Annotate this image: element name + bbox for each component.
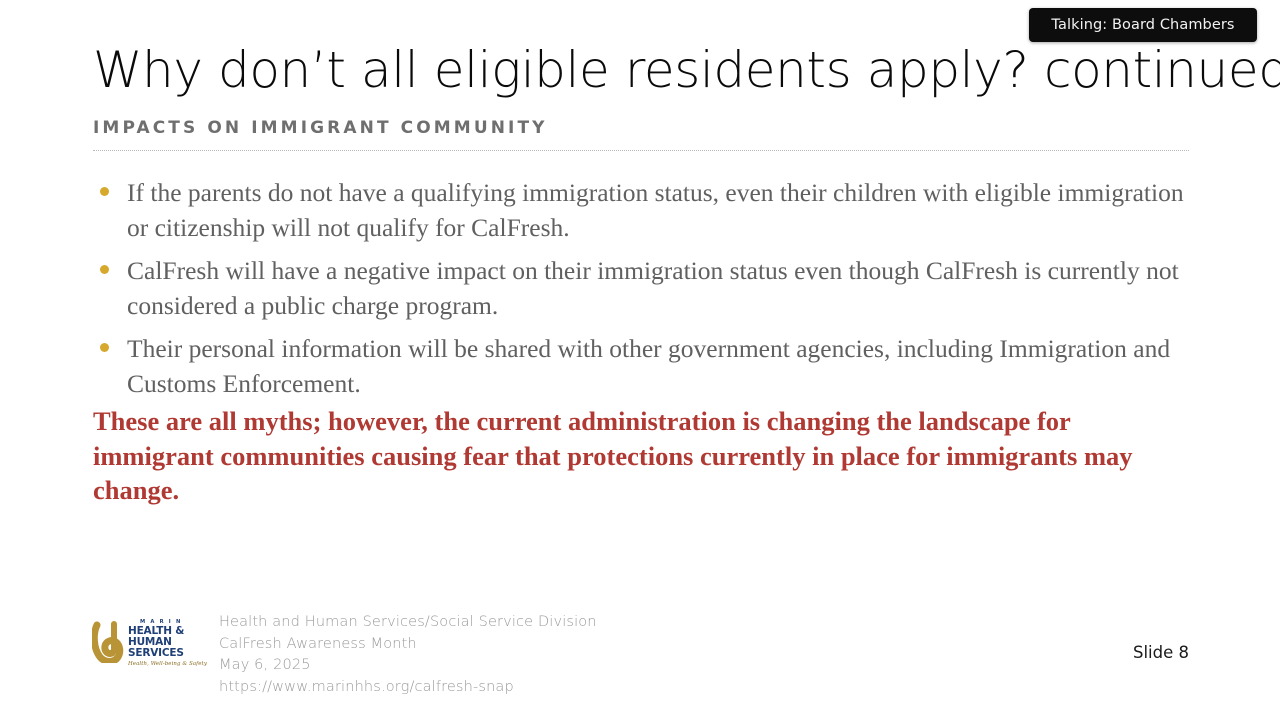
emphasis-paragraph: These are all myths; however, the curren… [93,404,1183,508]
bullet-dot-icon [100,265,109,274]
talking-indicator-badge: Talking: Board Chambers [1029,8,1257,42]
bullet-dot-icon [100,187,109,196]
footer-text-block: Health and Human Services/Social Service… [219,612,597,698]
slide-number: Slide 8 [1133,643,1189,662]
footer-line-date: May 6, 2025 [219,655,597,677]
slide-subtitle: IMPACTS ON IMMIGRANT COMMUNITY [93,118,548,138]
list-item: CalFresh will have a negative impact on … [93,254,1193,323]
footer-line-url: https://www.marinhhs.org/calfresh-snap [219,677,597,699]
header-divider [93,150,1189,151]
logo-wordmark: M A R I N HEALTH & HUMAN SERVICES Health… [128,619,194,667]
footer-line-event: CalFresh Awareness Month [219,634,597,656]
logo-tagline: Health, Well-being & Safety [128,661,194,667]
list-item-text: Their personal information will be share… [127,334,1170,398]
marin-swirl-logo-icon [92,621,126,663]
list-item: If the parents do not have a qualifying … [93,176,1193,245]
organization-logo: M A R I N HEALTH & HUMAN SERVICES Health… [92,619,194,671]
footer-line-division: Health and Human Services/Social Service… [219,612,597,634]
list-item-text: If the parents do not have a qualifying … [127,178,1184,242]
logo-line-3: SERVICES [128,648,194,659]
list-item: Their personal information will be share… [93,332,1193,401]
bullet-dot-icon [100,343,109,352]
page-title: Why don’t all eligible residents apply? … [93,40,1203,100]
talking-indicator-label: Talking: Board Chambers [1051,17,1234,33]
presentation-slide: Talking: Board Chambers Why don’t all el… [0,0,1280,720]
list-item-text: CalFresh will have a negative impact on … [127,256,1179,320]
bullet-list: If the parents do not have a qualifying … [93,176,1193,410]
